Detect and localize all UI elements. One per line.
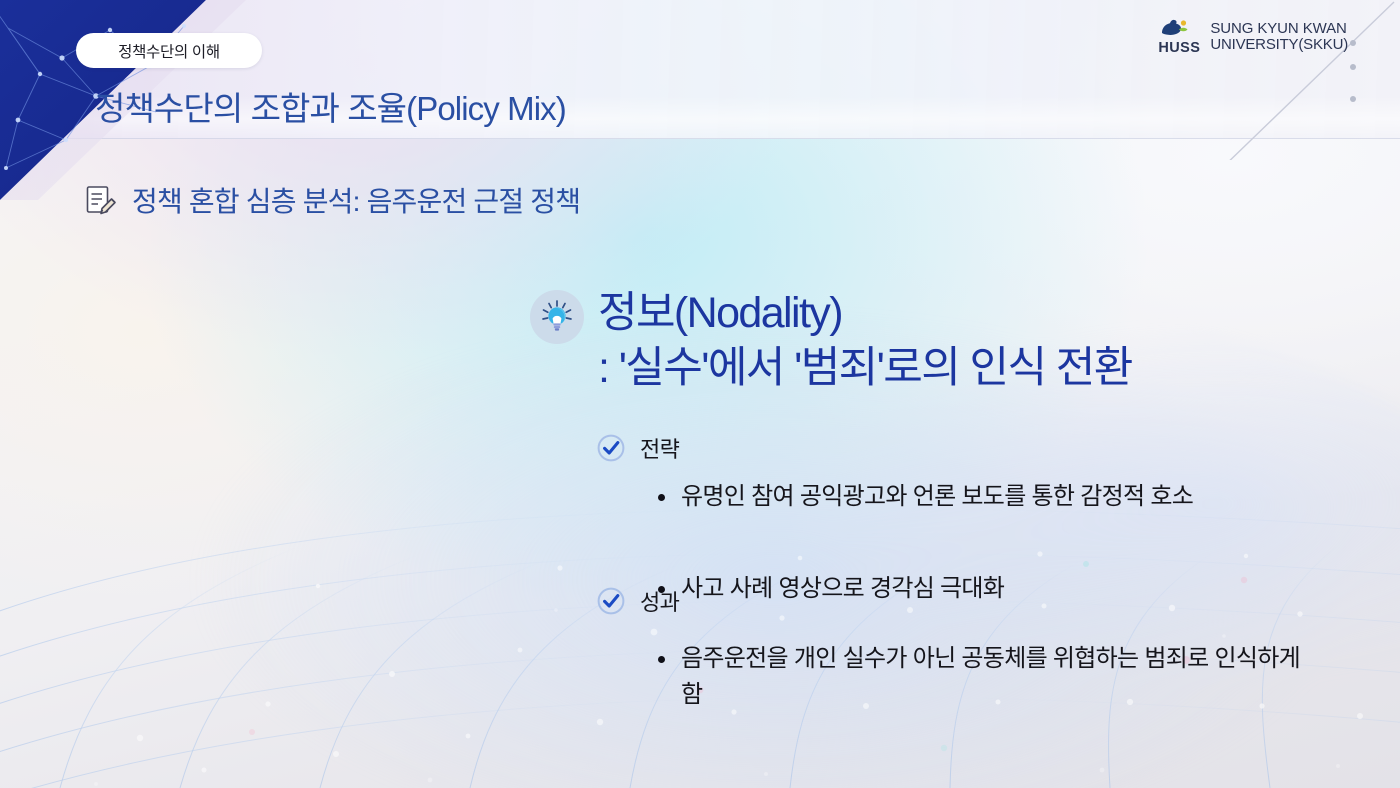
nodality-block-title: 정보(Nodality) : '실수'에서 '범죄'로의 인식 전환 xyxy=(598,286,1132,396)
slide-root: 정책수단의 이해 정책수단의 조합과 조율(Policy Mix) HUSS S… xyxy=(0,0,1400,788)
bullet-strategy-2-text: 사고 사례 영상으로 경각심 극대화 xyxy=(681,571,1004,607)
university-name-line1: SUNG KYUN KWAN xyxy=(1210,21,1348,37)
bullet-strategy-2: 사고 사례 영상으로 경각심 극대화 xyxy=(658,571,1004,607)
memo-pencil-icon xyxy=(84,183,118,217)
nodality-title-line-1: 정보(Nodality) xyxy=(598,286,1132,341)
header-dots-decoration xyxy=(1350,40,1356,120)
check-circle-icon xyxy=(596,586,626,616)
header-dot-2 xyxy=(1350,64,1356,70)
list-item-strategy-label: 전략 xyxy=(640,432,679,464)
bullet-dot-icon xyxy=(658,494,665,501)
header-dot-1 xyxy=(1350,40,1356,46)
breadcrumb-label: 정책수단의 이해 xyxy=(118,40,220,62)
bullet-dot-icon xyxy=(658,656,665,663)
bullet-result-1: 음주운전을 개인 실수가 아닌 공동체를 위협하는 범죄로 인식하게 함 xyxy=(658,641,1321,714)
huss-emblem-icon xyxy=(1158,18,1200,40)
huss-logo-mark: HUSS xyxy=(1158,18,1200,56)
check-circle-icon xyxy=(596,433,626,463)
nodality-block: 정보(Nodality) : '실수'에서 '범죄'로의 인식 전환 xyxy=(530,286,1370,396)
nodality-title-line-2: : '실수'에서 '범죄'로의 인식 전환 xyxy=(598,341,1132,396)
section-subheading: 정책 혼합 심층 분석: 음주운전 근절 정책 xyxy=(84,180,580,220)
nodality-block-header: 정보(Nodality) : '실수'에서 '범죄'로의 인식 전환 xyxy=(530,286,1370,396)
lightbulb-badge xyxy=(530,290,584,344)
university-logo: HUSS SUNG KYUN KWAN UNIVERSITY(SKKU) xyxy=(1158,18,1348,56)
lightbulb-icon xyxy=(538,298,576,336)
list-item-strategy: 전략 xyxy=(596,432,679,464)
section-subheading-label: 정책 혼합 심층 분석: 음주운전 근절 정책 xyxy=(132,180,580,220)
list-item-result: 성과 xyxy=(596,585,679,617)
breadcrumb: 정책수단의 이해 xyxy=(76,33,262,68)
page-title: 정책수단의 조합과 조율(Policy Mix) xyxy=(95,82,566,130)
list-item-result-label: 성과 xyxy=(640,585,679,617)
university-name: SUNG KYUN KWAN UNIVERSITY(SKKU) xyxy=(1210,21,1348,53)
bullet-strategy-1-text: 유명인 참여 공익광고와 언론 보도를 통한 감정적 호소 xyxy=(681,479,1193,515)
huss-logo-text: HUSS xyxy=(1158,41,1200,56)
university-name-line2: UNIVERSITY(SKKU) xyxy=(1210,37,1348,53)
bullet-result-1-text: 음주운전을 개인 실수가 아닌 공동체를 위협하는 범죄로 인식하게 함 xyxy=(681,641,1321,714)
bullet-strategy-1: 유명인 참여 공익광고와 언론 보도를 통한 감정적 호소 xyxy=(658,479,1193,515)
header-dot-3 xyxy=(1350,96,1356,102)
